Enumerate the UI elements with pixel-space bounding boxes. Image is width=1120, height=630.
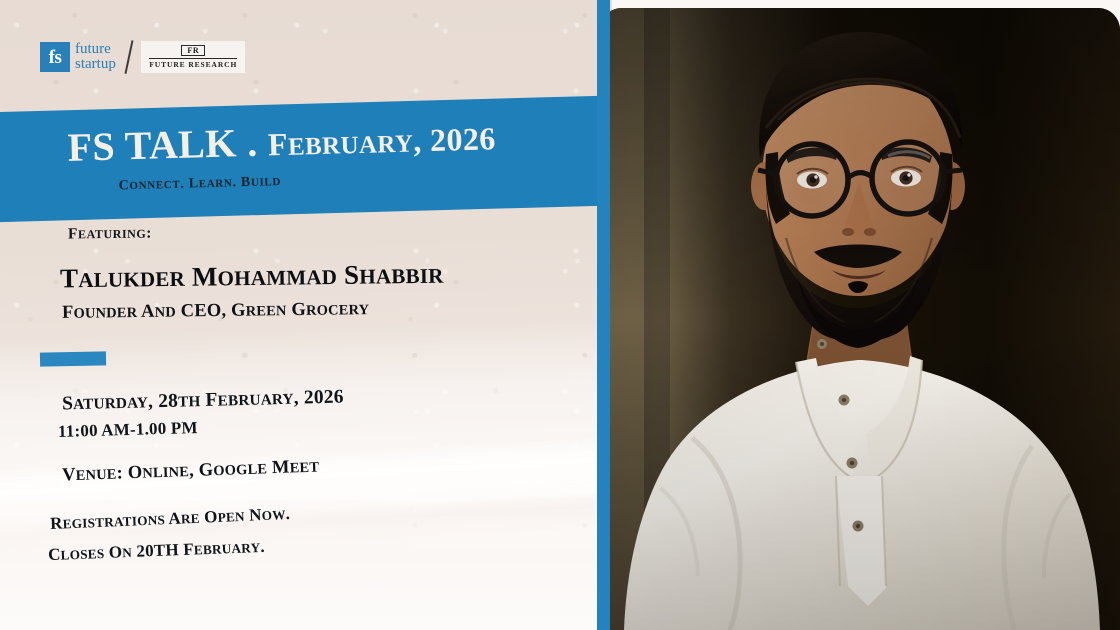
registration-close-notice: CLOSES ON 20TH FEBRUARY. <box>48 533 266 566</box>
speaker-name: TALUKDER MOHAMMAD SHABBIR <box>60 254 444 297</box>
event-time-text: 11:00 AM-1.00 PM <box>58 418 198 441</box>
registration-open-notice: REGISTRATIONS ARE OPEN NOW. <box>50 500 291 535</box>
speaker-photo <box>600 8 1120 630</box>
vertical-blue-stripe <box>597 0 610 630</box>
event-poster: fs future startup FR FUTURE RESEARCH FS … <box>0 0 1120 630</box>
event-date: SATURDAY, 28TH FEBRUARY, 2026 <box>62 383 344 417</box>
speaker-name-text: TALUKDER MOHAMMAD SHABBIR <box>60 259 444 294</box>
registration-close-text: CLOSES ON 20TH FEBRUARY. <box>48 537 265 564</box>
blue-accent-bar <box>40 351 106 366</box>
event-date-text: SATURDAY, 28TH FEBRUARY, 2026 <box>62 387 344 415</box>
featuring-label-text: FEATURING: <box>68 225 152 243</box>
registration-open-text: REGISTRATIONS ARE OPEN NOW. <box>50 504 291 533</box>
event-time: 11:00 AM-1.00 PM <box>58 416 198 443</box>
event-venue-text: VENUE: ONLINE, GOOGLE MEET <box>62 457 320 486</box>
event-venue: VENUE: ONLINE, GOOGLE MEET <box>62 452 320 487</box>
speaker-role: FOUNDER AND CEO, GREEN GROCERY <box>62 294 370 324</box>
event-details: FEATURING: TALUKDER MOHAMMAD SHABBIR FOU… <box>0 0 612 630</box>
featuring-label: FEATURING: <box>68 222 152 245</box>
speaker-role-text: FOUNDER AND CEO, GREEN GROCERY <box>62 299 369 323</box>
